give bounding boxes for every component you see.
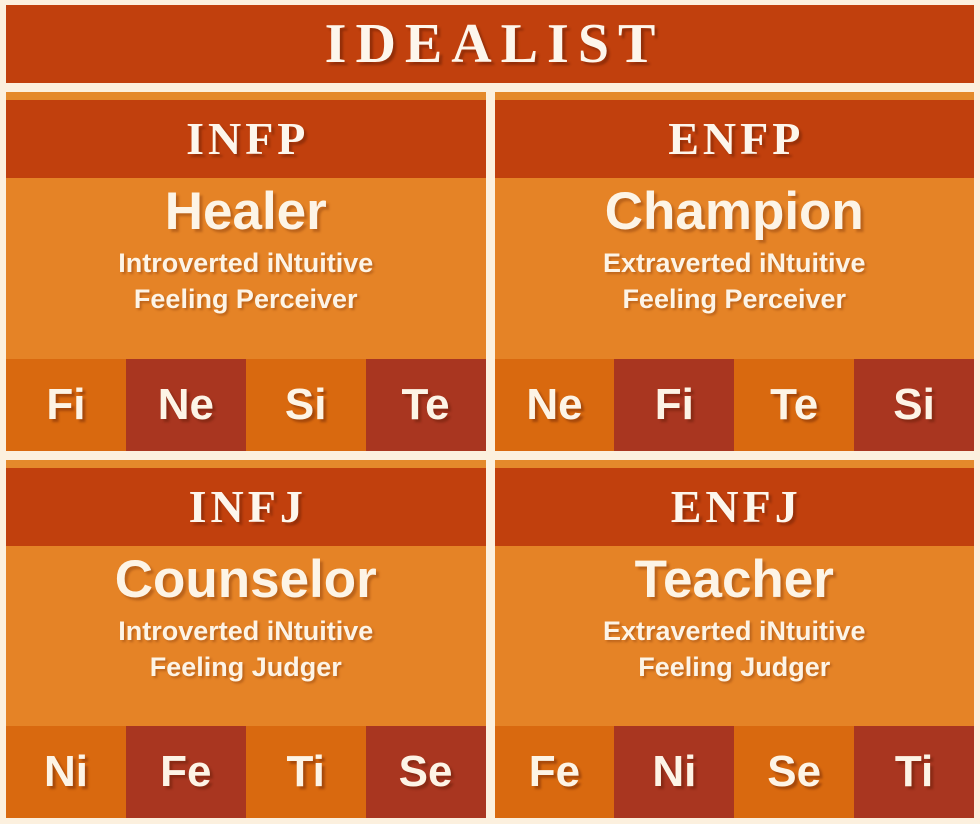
type-description-line-1: Introverted iNtuitive [118, 246, 373, 282]
type-description: Introverted iNtuitive Feeling Perceiver [118, 246, 373, 318]
function-cell-1[interactable]: Fi [6, 359, 126, 451]
personality-type-grid: INFP Healer Introverted iNtuitive Feelin… [6, 92, 974, 818]
type-code: ENFP [664, 116, 804, 162]
type-nickname: Healer [165, 184, 327, 240]
function-cell-2[interactable]: Ni [614, 726, 734, 818]
chart-title-banner: IDEALIST [6, 5, 974, 83]
type-description: Extraverted iNtuitive Feeling Perceiver [603, 246, 866, 318]
function-cell-1[interactable]: Ni [6, 726, 126, 818]
type-description-line-2: Feeling Judger [603, 650, 866, 686]
card-body-enfj: Teacher Extraverted iNtuitive Feeling Ju… [495, 546, 975, 727]
type-nickname: Counselor [115, 552, 377, 608]
type-card-infj[interactable]: INFJ Counselor Introverted iNtuitive Fee… [6, 460, 486, 819]
function-cell-4[interactable]: Ti [854, 726, 974, 818]
function-cell-1[interactable]: Ne [495, 359, 615, 451]
function-cell-3[interactable]: Se [734, 726, 854, 818]
function-cell-2[interactable]: Ne [126, 359, 246, 451]
card-top-accent-strip [6, 92, 486, 100]
type-description-line-2: Feeling Perceiver [603, 282, 866, 318]
card-header-infj: INFJ [6, 468, 486, 546]
function-cell-4[interactable]: Te [366, 359, 486, 451]
idealist-temperament-chart: IDEALIST INFP Healer Introverted iNtuiti… [0, 0, 980, 824]
type-card-infp[interactable]: INFP Healer Introverted iNtuitive Feelin… [6, 92, 486, 451]
type-card-enfp[interactable]: ENFP Champion Extraverted iNtuitive Feel… [495, 92, 975, 451]
card-header-enfp: ENFP [495, 100, 975, 178]
cognitive-function-row-enfp: Ne Fi Te Si [495, 359, 975, 451]
type-card-enfj[interactable]: ENFJ Teacher Extraverted iNtuitive Feeli… [495, 460, 975, 819]
function-cell-3[interactable]: Ti [246, 726, 366, 818]
type-code: INFP [182, 116, 309, 162]
cognitive-function-row-enfj: Fe Ni Se Ti [495, 726, 975, 818]
function-cell-4[interactable]: Se [366, 726, 486, 818]
type-code: ENFJ [667, 484, 802, 530]
card-body-infp: Healer Introverted iNtuitive Feeling Per… [6, 178, 486, 359]
function-cell-3[interactable]: Si [246, 359, 366, 451]
card-top-accent-strip [495, 92, 975, 100]
card-body-infj: Counselor Introverted iNtuitive Feeling … [6, 546, 486, 727]
type-description-line-1: Extraverted iNtuitive [603, 246, 866, 282]
type-description-line-2: Feeling Perceiver [118, 282, 373, 318]
card-top-accent-strip [495, 460, 975, 468]
card-body-enfp: Champion Extraverted iNtuitive Feeling P… [495, 178, 975, 359]
cognitive-function-row-infp: Fi Ne Si Te [6, 359, 486, 451]
card-top-accent-strip [6, 460, 486, 468]
type-description-line-2: Feeling Judger [118, 650, 373, 686]
type-description-line-1: Introverted iNtuitive [118, 614, 373, 650]
cognitive-function-row-infj: Ni Fe Ti Se [6, 726, 486, 818]
function-cell-2[interactable]: Fe [126, 726, 246, 818]
card-header-enfj: ENFJ [495, 468, 975, 546]
function-cell-2[interactable]: Fi [614, 359, 734, 451]
function-cell-4[interactable]: Si [854, 359, 974, 451]
page-title: IDEALIST [316, 16, 665, 72]
card-header-infp: INFP [6, 100, 486, 178]
function-cell-3[interactable]: Te [734, 359, 854, 451]
type-description-line-1: Extraverted iNtuitive [603, 614, 866, 650]
type-description: Introverted iNtuitive Feeling Judger [118, 614, 373, 686]
type-nickname: Teacher [635, 552, 834, 608]
type-code: INFJ [185, 484, 307, 530]
type-nickname: Champion [605, 184, 864, 240]
function-cell-1[interactable]: Fe [495, 726, 615, 818]
type-description: Extraverted iNtuitive Feeling Judger [603, 614, 866, 686]
